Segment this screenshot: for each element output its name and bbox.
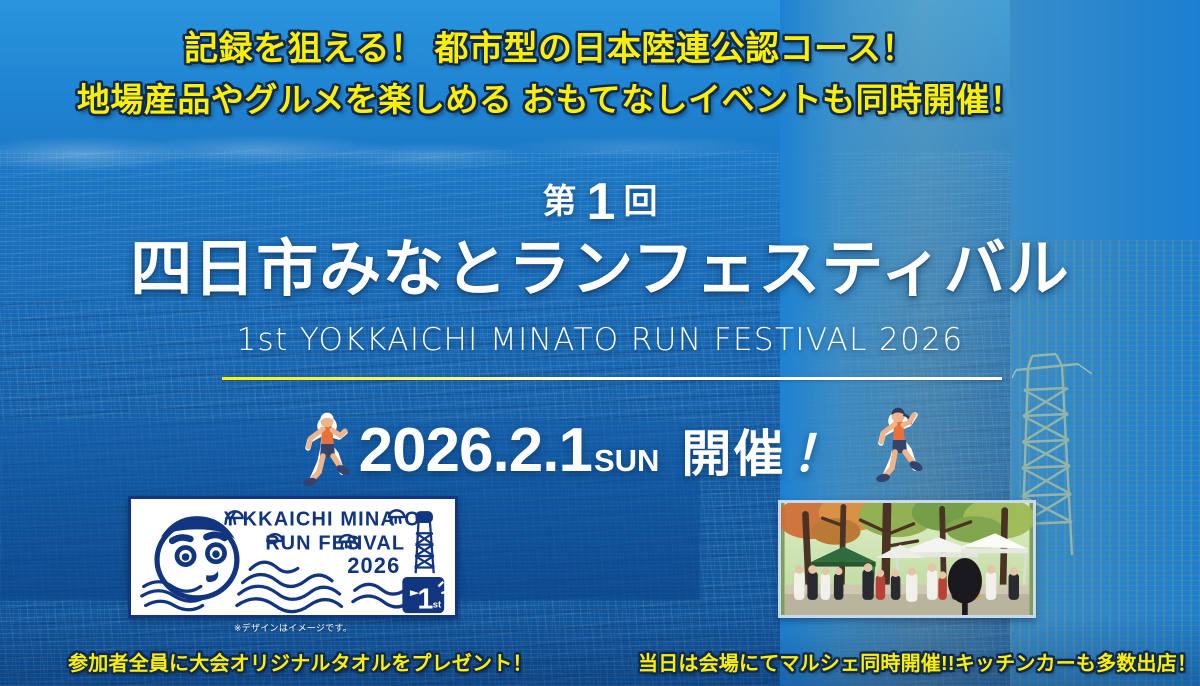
runner-male-icon bbox=[296, 410, 358, 492]
headline-line-1: 記録を狙える！ 都市型の日本陸連公認コース！ bbox=[0, 26, 1100, 73]
svg-text:IVAL: IVAL bbox=[357, 532, 406, 554]
runner-female-icon bbox=[868, 404, 930, 490]
edition-number: 1 bbox=[587, 173, 616, 231]
towel-badge-suffix: st bbox=[433, 599, 442, 610]
event-poster: 記録を狙える！ 都市型の日本陸連公認コース！ 地場産品やグルメを楽しめる おもて… bbox=[0, 0, 1200, 686]
edition-suffix: 回 bbox=[623, 183, 657, 221]
towel-badge-number: 1 bbox=[418, 583, 434, 615]
towel-design-image: Y KKAICHI MINA O R UN FES IVAL 2026 bbox=[128, 496, 458, 618]
svg-text:2026: 2026 bbox=[347, 553, 400, 578]
event-date: 2026.2.1 bbox=[359, 416, 592, 485]
divider-rule bbox=[222, 377, 1002, 380]
caption-right: 当日は会場にてマルシェ同時開催!!キッチンカーも多数出店！ bbox=[638, 647, 1197, 676]
headline-line-2: 地場産品やグルメを楽しめる おもてなしイベントも同時開催！ bbox=[0, 77, 1100, 123]
caption-left: 参加者全員に大会オリジナルタオルをプレゼント！ bbox=[68, 647, 533, 676]
event-title-en: 1st YOKKAICHI MINATO RUN FESTIVAL 2026 bbox=[0, 322, 1200, 358]
date-row: 2026.2.1SUN開催！ bbox=[0, 405, 1200, 497]
event-title-ja: 四日市みなとランフェスティバル bbox=[0, 237, 1200, 302]
market-photo bbox=[778, 500, 1036, 618]
event-held-exclaim: ！ bbox=[791, 426, 841, 482]
event-held-label: 開催 bbox=[681, 426, 785, 482]
towel-disclaimer: ※デザインはイメージです。 bbox=[128, 621, 458, 634]
edition-label: 第1回 bbox=[0, 176, 1200, 228]
headline: 記録を狙える！ 都市型の日本陸連公認コース！ 地場産品やグルメを楽しめる おもて… bbox=[0, 26, 1100, 122]
event-weekday: SUN bbox=[594, 443, 659, 478]
svg-text:KKAICHI MINA: KKAICHI MINA bbox=[243, 509, 396, 531]
caption-bar: 参加者全員に大会オリジナルタオルをプレゼント！ 当日は会場にてマルシェ同時開催!… bbox=[0, 636, 1200, 686]
edition-prefix: 第 bbox=[543, 183, 579, 221]
